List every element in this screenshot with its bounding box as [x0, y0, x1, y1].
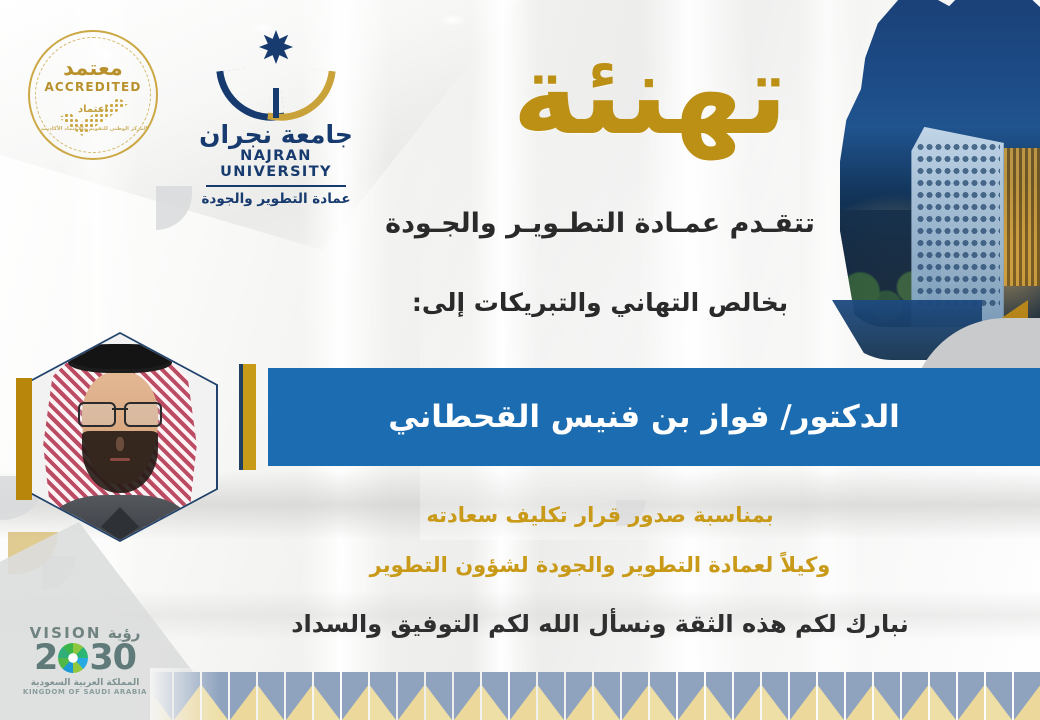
- ribbon-segment: [594, 672, 620, 720]
- logo-swoosh-icon: [211, 66, 341, 120]
- ribbon-segment: [1014, 672, 1040, 720]
- honoree-name-banner: الدكتور/ فواز بن فنيس القحطاني: [268, 368, 1040, 466]
- vision-year-right: 30: [89, 642, 136, 675]
- ribbon-segment: [734, 672, 760, 720]
- ribbon-segment: [818, 672, 844, 720]
- body-line-2: بخالص التهاني والتبريكات إلى:: [300, 288, 900, 317]
- vision-year: 2 30: [22, 642, 148, 675]
- campus-gold-facade: [1004, 148, 1040, 286]
- vision-kingdom-en: KINGDOM OF SAUDI ARABIA: [22, 688, 148, 696]
- ribbon-segment: [510, 672, 536, 720]
- honoree-portrait: [22, 332, 218, 542]
- portrait-nose: [116, 437, 124, 451]
- university-name-arabic: جامعة نجران: [196, 122, 356, 147]
- congratulation-poster: معتمد ACCREDITED اعتماد المركز الوطني لل…: [0, 0, 1040, 720]
- seal-authority-label: اعتماد: [28, 104, 158, 115]
- vision-emblem-icon: [58, 643, 88, 673]
- ribbon-fade-mask: [150, 668, 220, 720]
- ribbon-segment: [930, 672, 956, 720]
- occasion-line-1: بمناسبة صدور قرار تكليف سعادته: [300, 503, 900, 527]
- closing-line: نبارك لكم هذه الثقة ونسأل الله لكم التوف…: [250, 610, 950, 638]
- seal-arabic-label: معتمد: [28, 56, 158, 80]
- vision-kingdom-ar: المملكة العربية السعودية: [22, 678, 148, 688]
- ribbon-segment: [230, 672, 256, 720]
- portrait-gold-accent-bar: [16, 378, 32, 500]
- ribbon-segment: [398, 672, 424, 720]
- accreditation-seal: معتمد ACCREDITED اعتماد المركز الوطني لل…: [28, 30, 158, 160]
- portrait-igal: [66, 344, 174, 369]
- eight-point-star-icon: [259, 30, 293, 64]
- university-name-english: NAJRAN UNIVERSITY: [196, 148, 356, 180]
- logo-divider: [206, 185, 346, 187]
- body-line-1: تتقـدم عمـادة التطـويـر والجـودة: [300, 208, 900, 239]
- portrait-glasses: [78, 402, 162, 423]
- deanship-name: عمادة التطوير والجودة: [196, 191, 356, 207]
- occasion-line-2: وكيلاً لعمادة التطوير والجودة لشؤون التط…: [280, 553, 920, 577]
- ribbon-segment: [790, 672, 816, 720]
- page-title: تهنئة: [512, 39, 787, 151]
- portrait-hex-photo: [24, 334, 216, 540]
- ribbon-segment: [314, 672, 340, 720]
- decorative-ribbon: [150, 668, 1040, 720]
- ribbon-segment: [986, 672, 1012, 720]
- ribbon-segment: [846, 672, 872, 720]
- ribbon-segment: [342, 672, 368, 720]
- ribbon-segment: [902, 672, 928, 720]
- ribbon-segment: [482, 672, 508, 720]
- seal-english-label: ACCREDITED: [28, 80, 158, 94]
- portrait-glasses-bridge: [112, 408, 127, 410]
- seal-inner-ring: [35, 37, 151, 153]
- honoree-name: الدكتور/ فواز بن فنيس القحطاني: [388, 399, 900, 435]
- ribbon-segment: [286, 672, 312, 720]
- ribbon-segment: [566, 672, 592, 720]
- najran-university-logo: جامعة نجران NAJRAN UNIVERSITY عمادة التط…: [196, 30, 356, 207]
- vision-year-left: 2: [34, 642, 57, 675]
- ribbon-segment: [678, 672, 704, 720]
- saudi-vision-2030-logo: VISION رؤية 2 30 المملكة العربية السعودي…: [22, 624, 148, 696]
- headline-container: تهنئة: [500, 26, 800, 176]
- seal-fine-print: المركز الوطني للتقويم والاعتماد الأكاديم…: [28, 126, 158, 134]
- ribbon-segment: [258, 672, 284, 720]
- campus-night-photo-panel: [840, 0, 1040, 327]
- ribbon-segment: [622, 672, 648, 720]
- ribbon-segment: [426, 672, 452, 720]
- ribbon-segment: [706, 672, 732, 720]
- ribbon-segment: [370, 672, 396, 720]
- ribbon-segment: [538, 672, 564, 720]
- campus-tower-windows: [916, 141, 1000, 307]
- ribbon-segment: [454, 672, 480, 720]
- swoosh-stem: [273, 88, 279, 118]
- portrait-mouth: [110, 458, 129, 461]
- ceiling-lamp-3: [440, 14, 466, 26]
- ribbon-segment: [958, 672, 984, 720]
- ribbon-segment: [762, 672, 788, 720]
- name-banner-gold-bar: [243, 364, 256, 470]
- ribbon-segment: [874, 672, 900, 720]
- campus-night-photo: [840, 0, 1040, 327]
- ribbon-segment: [650, 672, 676, 720]
